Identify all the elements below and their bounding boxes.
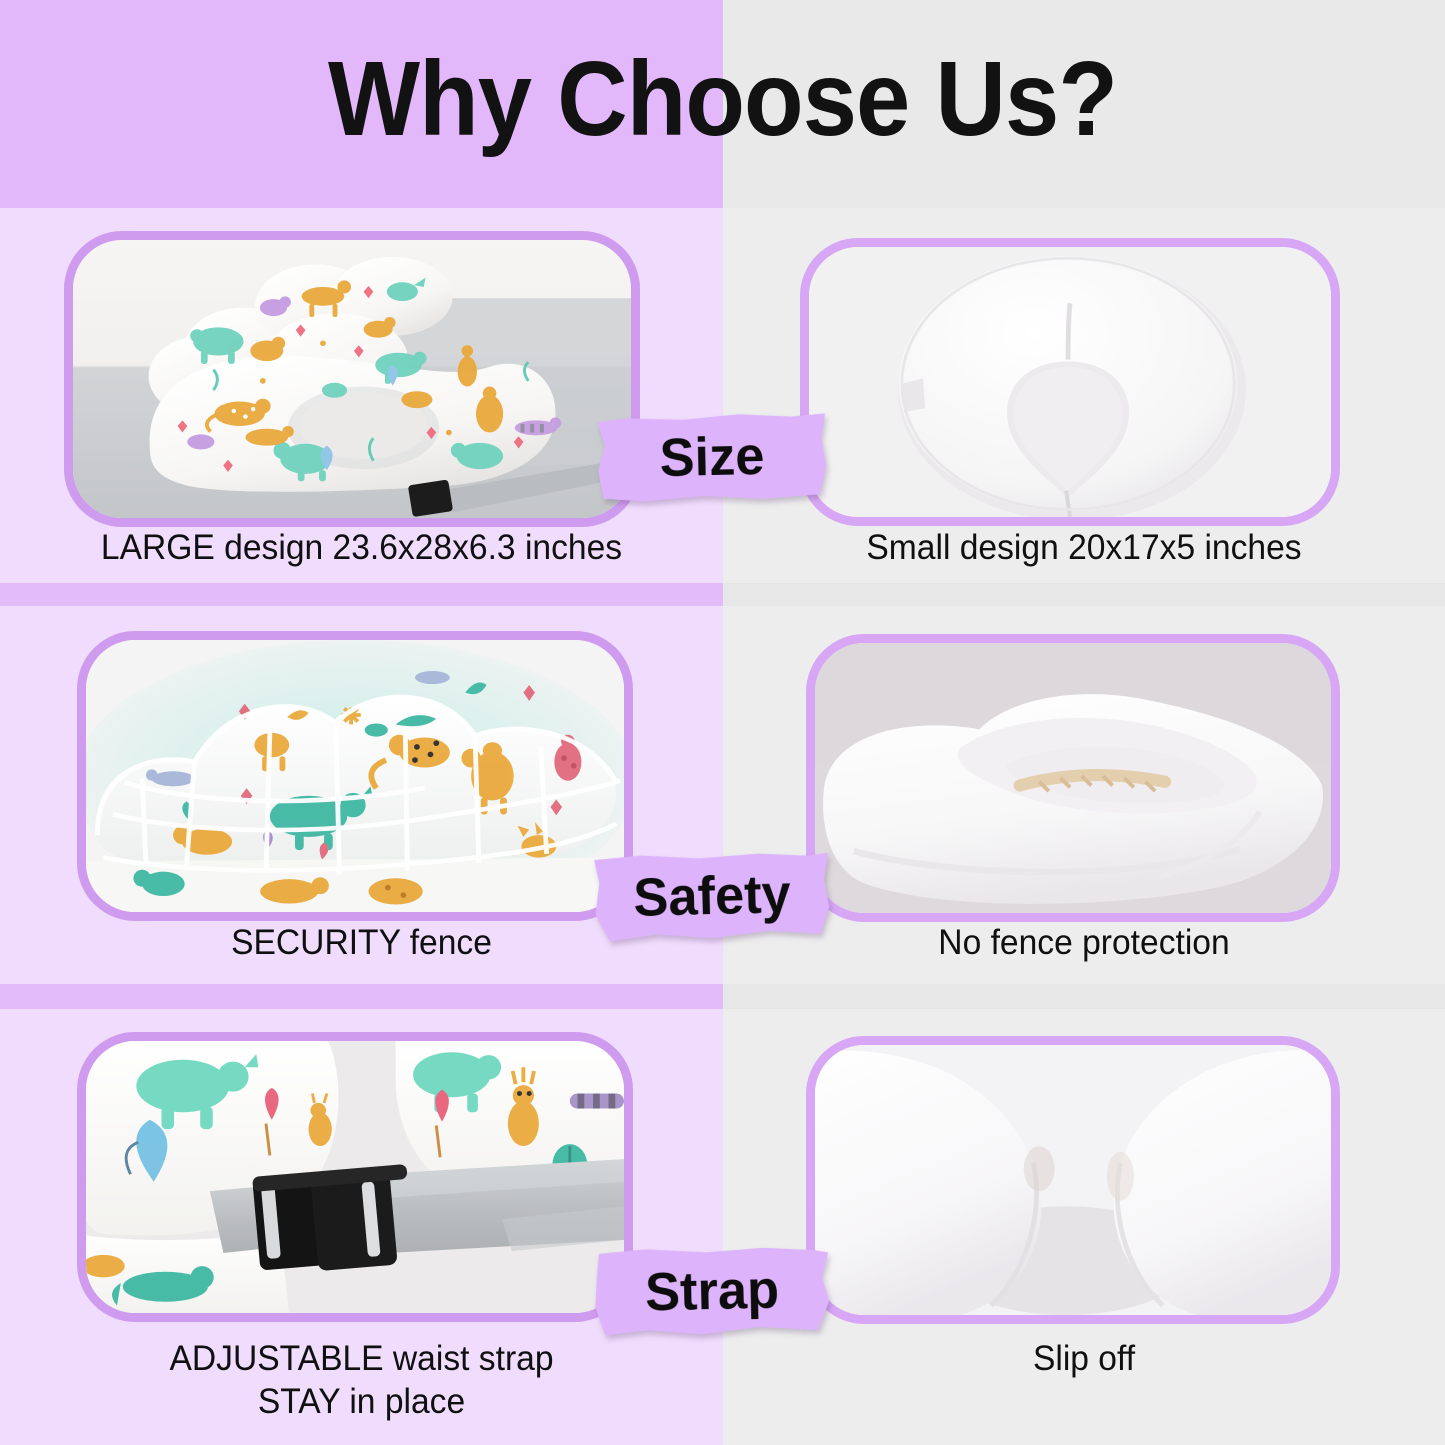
page-title: Why Choose Us? bbox=[58, 46, 1387, 152]
con-caption-row-2: No fence protection bbox=[737, 922, 1430, 965]
pro-image-row-3 bbox=[77, 1032, 633, 1322]
infographic-page: Why Choose Us? bbox=[0, 0, 1445, 1445]
row-divider-band-left-1 bbox=[0, 583, 723, 606]
badge-size-label: Size bbox=[659, 425, 765, 489]
security-fence-overlay-photo bbox=[86, 640, 624, 912]
pro-image-row-1 bbox=[64, 231, 640, 527]
con-caption-row-3: Slip off bbox=[737, 1338, 1430, 1381]
animal-print-u-pillow-photo bbox=[73, 240, 631, 518]
badge-strap-label: Strap bbox=[644, 1259, 779, 1324]
con-caption-row-1: Small design 20x17x5 inches bbox=[737, 527, 1430, 570]
row-divider-band-left-2 bbox=[0, 984, 723, 1009]
row-divider-band-right-2 bbox=[723, 984, 1445, 1009]
con-image-row-2 bbox=[806, 634, 1340, 922]
plain-white-donut-pillow-photo bbox=[809, 247, 1331, 517]
badge-strap: Strap bbox=[594, 1246, 830, 1337]
badge-safety-label: Safety bbox=[633, 863, 792, 929]
badge-safety: Safety bbox=[594, 850, 830, 942]
pillow-ends-gap-photo bbox=[815, 1045, 1331, 1315]
row-divider-band-right-1 bbox=[723, 583, 1445, 606]
con-image-row-3 bbox=[806, 1036, 1340, 1324]
pro-image-row-2 bbox=[77, 631, 633, 921]
white-pillow-no-fence-photo bbox=[815, 643, 1331, 913]
adjustable-strap-buckle-photo bbox=[86, 1041, 624, 1313]
pro-caption-row-1: LARGE design 23.6x28x6.3 inches bbox=[14, 527, 708, 570]
con-image-row-1 bbox=[800, 238, 1340, 526]
badge-size: Size bbox=[597, 412, 827, 503]
pro-caption-row-3: ADJUSTABLE waist strap STAY in place bbox=[14, 1338, 708, 1423]
